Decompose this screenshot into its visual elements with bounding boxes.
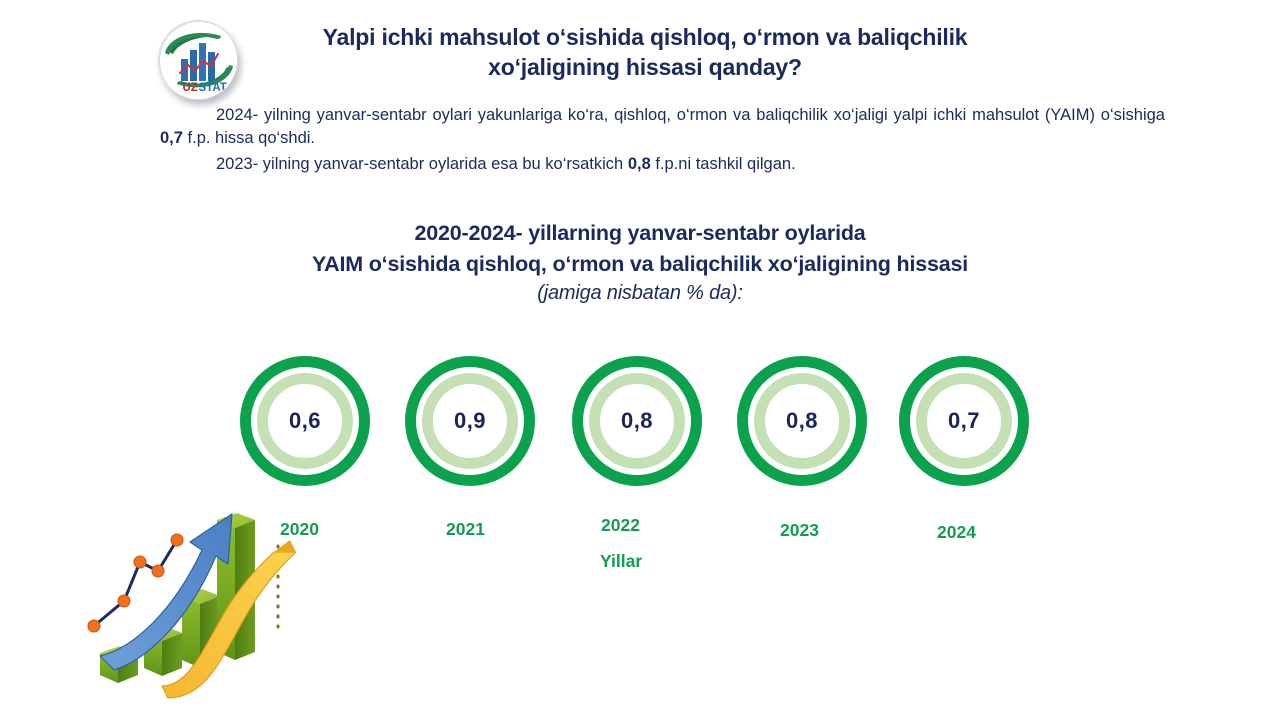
donut-value-label: 0,6 [240,356,370,486]
donut-value-label: 0,8 [572,356,702,486]
page-title-line-1: Yalpi ichki mahsulot o‘sishida qishloq, … [250,22,1040,52]
chart-title-line-2: YAIM o‘sishida qishloq, o‘rmon va baliqc… [210,249,1070,280]
donut-value-label: 0,9 [405,356,535,486]
donut-value-label: 0,7 [899,356,1029,486]
page-title: Yalpi ichki mahsulot o‘sishida qishloq, … [250,22,1040,83]
logo-text-stat: STAT [199,82,227,94]
logo-badge: UZ STAT [158,20,238,100]
donut-2023: 0,8 [737,356,867,486]
growth-chart-illustration [62,478,314,703]
year-label-2021: 2021 [446,519,485,540]
uzstat-logo: UZ STAT [152,16,244,108]
donut-value-label: 0,8 [737,356,867,486]
paragraph-2024: 2024- yilning yanvar-sentabr oylari yaku… [160,104,1165,151]
growth-chart-artwork [62,478,314,703]
chart-title-line-1: 2020-2024- yillarning yanvar-sentabr oyl… [210,218,1070,249]
year-label-2024: 2024 [937,522,976,543]
donut-2020: 0,6 [240,356,370,486]
chart-subtitle: (jamiga nisbatan % da): [210,279,1070,307]
x-axis-label: Yillar [600,551,642,572]
chart-title: 2020-2024- yillarning yanvar-sentabr oyl… [210,218,1070,307]
year-label-2023: 2023 [780,520,819,541]
paragraph-2024-value: 0,7 [160,129,183,147]
paragraph-2023-post: f.p.ni tashkil qilgan. [651,155,796,173]
paragraph-2023-pre: 2023- yilning yanvar-sentabr oylarida es… [216,155,628,173]
donut-2022: 0,8 [572,356,702,486]
logo-text-uz: UZ [183,82,198,94]
paragraph-2023-value: 0,8 [628,155,651,173]
page-title-line-2: xo‘jaligining hissasi qanday? [250,52,1040,82]
logo-artwork: UZ STAT [159,21,238,100]
paragraph-2024-pre: 2024- yilning yanvar-sentabr oylari yaku… [216,106,1165,124]
paragraph-2023: 2023- yilning yanvar-sentabr oylarida es… [160,153,1165,176]
paragraph-2024-post: f.p. hissa qo‘shdi. [183,129,315,147]
donut-2021: 0,9 [405,356,535,486]
year-label-2022: 2022 [601,515,640,536]
body-text: 2024- yilning yanvar-sentabr oylari yaku… [160,104,1165,178]
donut-2024: 0,7 [899,356,1029,486]
